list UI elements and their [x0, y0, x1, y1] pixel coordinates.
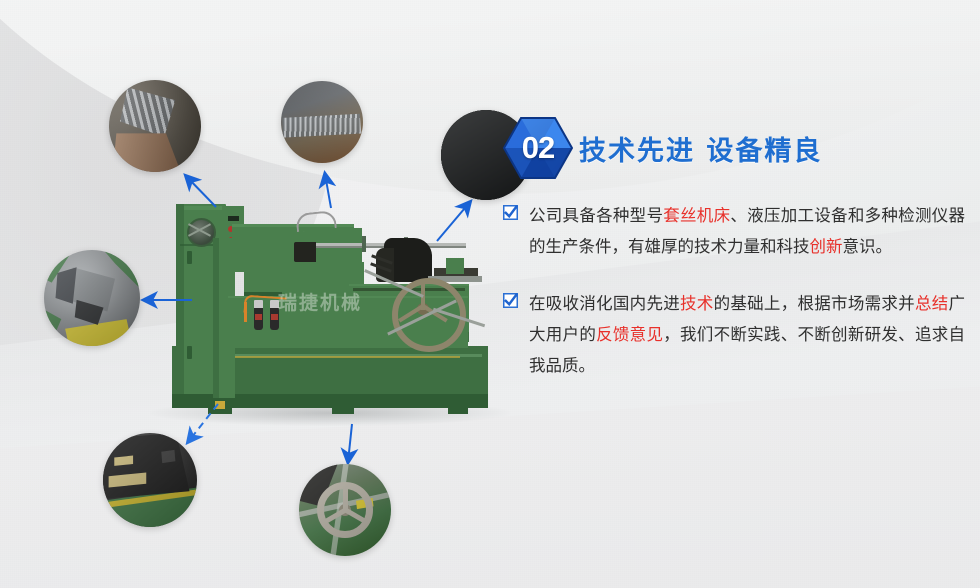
bullet-2-seg-3: 总结	[915, 294, 949, 313]
bullet-item-1: 公司具备各种型号套丝机床、液压加工设备和多种检测仪器的生产条件，有雄厚的技术力量…	[503, 200, 965, 262]
promo-banner: 瑞捷机械	[0, 0, 980, 588]
section-number-badge: 02	[503, 115, 573, 181]
bullet-2-seg-5: 反馈意见	[596, 325, 663, 344]
bullet-1-seg-4: 意识。	[843, 237, 893, 256]
section-heading: 02 技术先进 设备精良	[503, 112, 965, 184]
callout-hydraulic-unit	[103, 433, 197, 527]
bullet-2-seg-1: 技术	[680, 294, 714, 313]
bullet-2-seg-0: 在吸收消化国内先进	[529, 294, 680, 313]
bullet-item-2: 在吸收消化国内先进技术的基础上，根据市场需求并总结广大用户的反馈意见，我们不断实…	[503, 288, 965, 381]
content-column: 02 技术先进 设备精良 公司具备各种型号套丝机床、液压加工设备和多种检测仪器的…	[503, 112, 965, 381]
bullet-1-seg-1: 套丝机床	[663, 206, 730, 225]
section-title: 技术先进 设备精良	[579, 129, 822, 168]
product-watermark: 瑞捷机械	[278, 288, 398, 310]
callout-thread-bar	[281, 81, 363, 163]
checkbox-checked-icon	[503, 205, 518, 220]
callout-cutting-head	[44, 250, 140, 346]
bullet-1-seg-0: 公司具备各种型号	[529, 206, 663, 225]
section-number-text: 02	[503, 115, 573, 181]
callout-handwheel	[299, 464, 391, 556]
product-photo: 瑞捷机械	[166, 196, 496, 420]
checkbox-checked-icon	[503, 293, 518, 308]
bullet-2-seg-2: 的基础上，根据市场需求并	[714, 294, 915, 313]
bullet-1-seg-3: 创新	[810, 237, 843, 256]
callout-thread-closeup	[109, 80, 201, 172]
bullet-1-text: 公司具备各种型号套丝机床、液压加工设备和多种检测仪器的生产条件，有雄厚的技术力量…	[529, 206, 965, 256]
bullet-2-text: 在吸收消化国内先进技术的基础上，根据市场需求并总结广大用户的反馈意见，我们不断实…	[529, 294, 965, 375]
